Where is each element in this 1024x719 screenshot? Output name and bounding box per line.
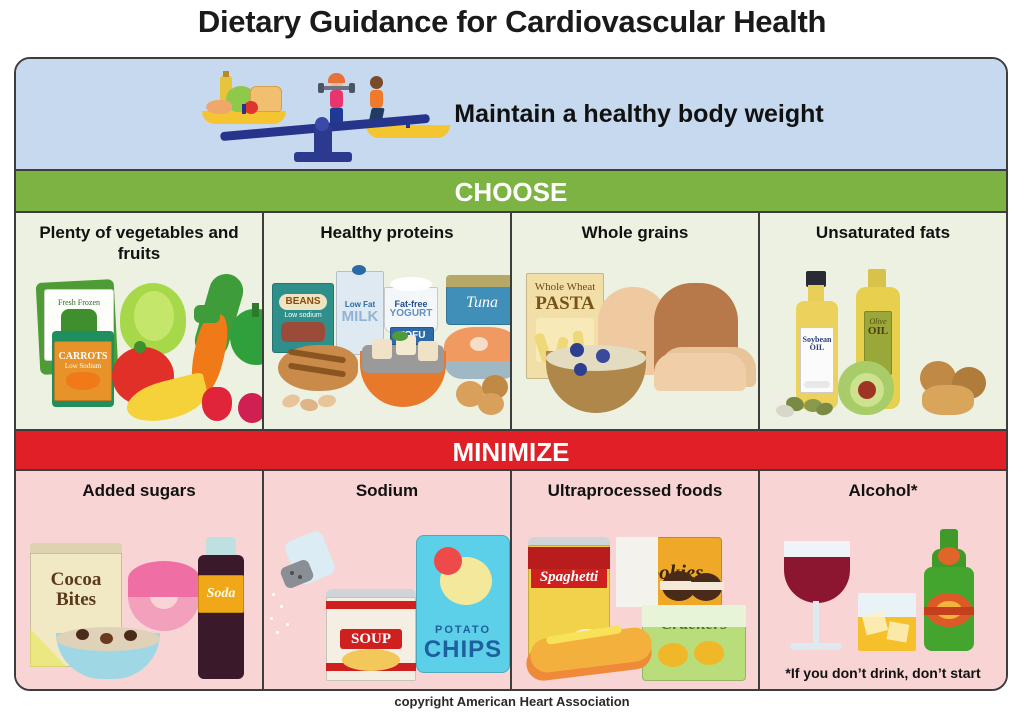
runner-icon <box>370 76 383 124</box>
cell-unsaturated-fats[interactable]: Unsaturated fats Soybean OIL Olive OIL <box>760 213 1006 429</box>
cell-title: Unsaturated fats <box>760 222 1006 243</box>
infographic-root: Dietary Guidance for Cardiovascular Heal… <box>0 0 1024 719</box>
cell-title: Whole grains <box>512 222 758 243</box>
guidance-board: Maintain a healthy body weight CHOOSE Pl… <box>14 57 1008 691</box>
sodium-illustration: SOUP POTATO CHIPS <box>264 531 510 681</box>
cell-healthy-proteins[interactable]: Healthy proteins BEANS Low sodium Low Fa… <box>264 213 512 429</box>
cell-title: Healthy proteins <box>264 222 510 243</box>
healthy-weight-text: Maintain a healthy body weight <box>454 100 823 129</box>
minimize-band: MINIMIZE <box>16 429 1006 471</box>
page-title: Dietary Guidance for Cardiovascular Heal… <box>0 4 1024 40</box>
whole-grains-illustration: Whole Wheat PASTA <box>512 269 758 427</box>
cell-title: Sodium <box>264 480 510 501</box>
cell-title: Added sugars <box>16 480 262 501</box>
choose-band: CHOOSE <box>16 171 1006 213</box>
cell-vegetables-fruits[interactable]: Plenty of vegetables and fruits Fresh Fr… <box>16 213 264 429</box>
healthy-proteins-illustration: BEANS Low sodium Low Fat MILK Fat-free Y… <box>264 269 510 427</box>
healthy-weight-banner: Maintain a healthy body weight <box>16 59 1006 171</box>
minimize-grid: Added sugars Cocoa Bites Soda <box>16 471 1006 689</box>
cell-whole-grains[interactable]: Whole grains Whole Wheat PASTA <box>512 213 760 429</box>
cell-alcohol[interactable]: Alcohol* <box>760 471 1006 689</box>
cell-title: Plenty of vegetables and fruits <box>16 222 262 264</box>
balance-scale-icon <box>198 64 448 164</box>
ultraprocessed-foods-illustration: ★★★★ Spaghetti NO.1 Cookies Crackers <box>512 531 758 681</box>
copyright-text: copyright American Heart Association <box>0 694 1024 709</box>
weightlifter-icon <box>330 76 343 124</box>
cell-ultraprocessed-foods[interactable]: Ultraprocessed foods ★★★★ Spaghetti NO.1… <box>512 471 760 689</box>
vegetables-fruits-illustration: Fresh Frozen BROCCOLI CARROTS Low Sodium <box>16 269 262 427</box>
cell-title: Ultraprocessed foods <box>512 480 758 501</box>
alcohol-illustration <box>760 531 1006 681</box>
choose-grid: Plenty of vegetables and fruits Fresh Fr… <box>16 213 1006 429</box>
unsaturated-fats-illustration: Soybean OIL Olive OIL <box>760 269 1006 427</box>
cell-title: Alcohol* <box>760 480 1006 501</box>
cell-added-sugars[interactable]: Added sugars Cocoa Bites Soda <box>16 471 264 689</box>
alcohol-footnote: *If you don’t drink, don’t start <box>760 665 1006 681</box>
cell-sodium[interactable]: Sodium SOUP <box>264 471 512 689</box>
added-sugars-illustration: Cocoa Bites Soda <box>16 531 262 681</box>
